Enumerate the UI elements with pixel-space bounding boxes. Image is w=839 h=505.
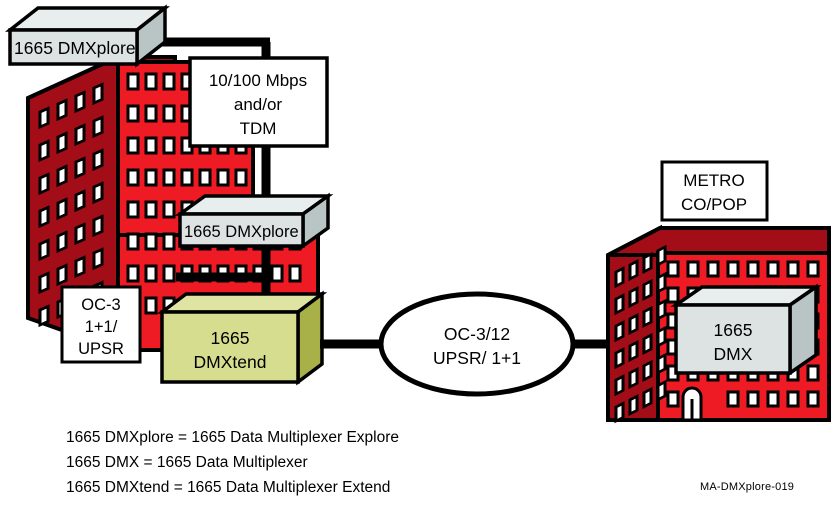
dmx-right-box-label-line-2: DMX: [714, 344, 753, 364]
legend-line-1: 1665 DMXplore = 1665 Data Multiplexer Ex…: [66, 425, 399, 450]
dmxtend-box-label-line-1: 1665: [211, 328, 250, 348]
oc3-line-3: UPSR: [78, 340, 124, 358]
access-rate-line-2: and/or: [234, 95, 283, 114]
access-rate-callout: 10/100 Mbps and/or TDM: [190, 58, 327, 146]
transport-network-ellipse[interactable]: OC-3/12 UPSR/ 1+1: [381, 294, 573, 394]
metro-line-2: CO/POP: [681, 195, 747, 214]
dmxtend-box-label-line-2: DMXtend: [194, 352, 267, 372]
oc3-callout: OC-3 1+1/ UPSR: [62, 287, 140, 362]
right-building-roof: [608, 228, 829, 255]
metro-line-1: METRO: [683, 171, 744, 190]
dmxtend-box[interactable]: 1665 DMXtend: [162, 294, 322, 382]
dmxplore-mid-box-label: 1665 DMXplore: [184, 223, 299, 241]
dmx-right-box-label-line-1: 1665: [714, 320, 753, 340]
legend-line-3: 1665 DMXtend = 1665 Data Multiplexer Ext…: [66, 475, 390, 500]
document-id: MA-DMXplore-019: [700, 481, 794, 493]
oc3-line-1: OC-3: [81, 296, 120, 314]
dmx-right-box[interactable]: 1665 DMX: [676, 287, 816, 373]
transport-network-line-1: OC-3/12: [444, 324, 510, 344]
diagram-canvas: 1665 DMXplore 10/100 Mbps and/or TDM 166…: [0, 0, 839, 505]
dmxplore-top-box-label: 1665 DMXplore: [14, 38, 136, 58]
transport-network-ellipse-shape: [381, 294, 573, 394]
access-rate-line-3: TDM: [240, 119, 277, 138]
dmxtend-box-side-face: [298, 294, 322, 382]
legend-line-2: 1665 DMX = 1665 Data Multiplexer: [66, 450, 308, 475]
oc3-line-2: 1+1/: [85, 318, 118, 336]
metro-callout: METRO CO/POP: [662, 162, 767, 220]
transport-network-line-2: UPSR/ 1+1: [433, 348, 521, 368]
dmxtend-box-top-face: [162, 294, 322, 312]
access-rate-line-1: 10/100 Mbps: [209, 71, 307, 90]
dmxplore-top-box[interactable]: 1665 DMXplore: [10, 8, 165, 64]
dmxplore-mid-box[interactable]: 1665 DMXplore: [180, 196, 328, 246]
